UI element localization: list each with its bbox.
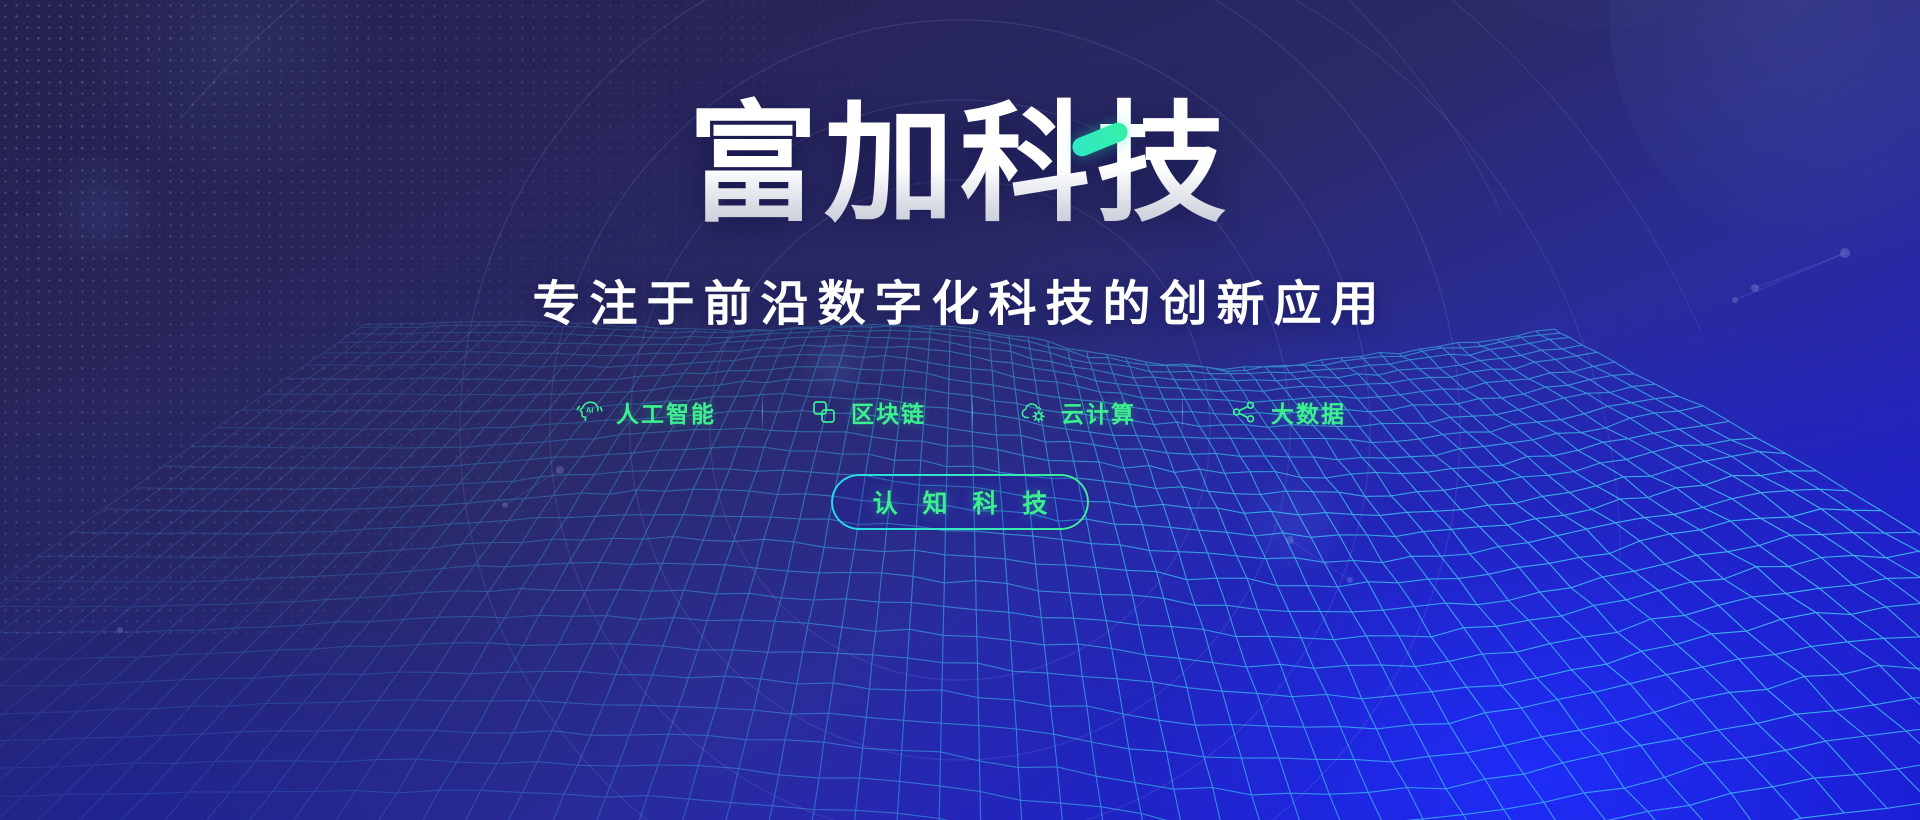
cloud-gear-icon bbox=[1019, 397, 1049, 427]
svg-text:AI: AI bbox=[586, 405, 593, 414]
hero-content: 富加科技 专注于前沿数字化科技的创新应用 AI人工智能区块链云计算大数据 认 知… bbox=[0, 0, 1920, 820]
feature-tag-label: 大数据 bbox=[1271, 395, 1346, 429]
feature-tag-1[interactable]: AI人工智能 bbox=[528, 395, 762, 429]
feature-tag-4[interactable]: 大数据 bbox=[1183, 395, 1392, 429]
feature-tag-label: 区块链 bbox=[851, 395, 926, 429]
ai-head-icon: AI bbox=[574, 397, 604, 427]
blockchain-blocks-icon bbox=[809, 397, 839, 427]
feature-tag-2[interactable]: 区块链 bbox=[763, 395, 972, 429]
brand-title: 富加科技 bbox=[688, 96, 1232, 234]
hero-banner: 富加科技 专注于前沿数字化科技的创新应用 AI人工智能区块链云计算大数据 认 知… bbox=[0, 0, 1920, 820]
share-nodes-icon bbox=[1229, 397, 1259, 427]
brand-subtitle: 专注于前沿数字化科技的创新应用 bbox=[532, 264, 1387, 334]
cta-button-label: 认 知 科 技 bbox=[864, 484, 1057, 520]
feature-tag-label: 云计算 bbox=[1061, 395, 1136, 429]
brand-title-text: 富加科技 bbox=[688, 91, 1232, 237]
feature-tag-3[interactable]: 云计算 bbox=[973, 395, 1182, 429]
feature-tag-label: 人工智能 bbox=[616, 395, 716, 429]
feature-tag-row: AI人工智能区块链云计算大数据 bbox=[528, 392, 1392, 432]
cta-button[interactable]: 认 知 科 技 bbox=[831, 474, 1089, 530]
